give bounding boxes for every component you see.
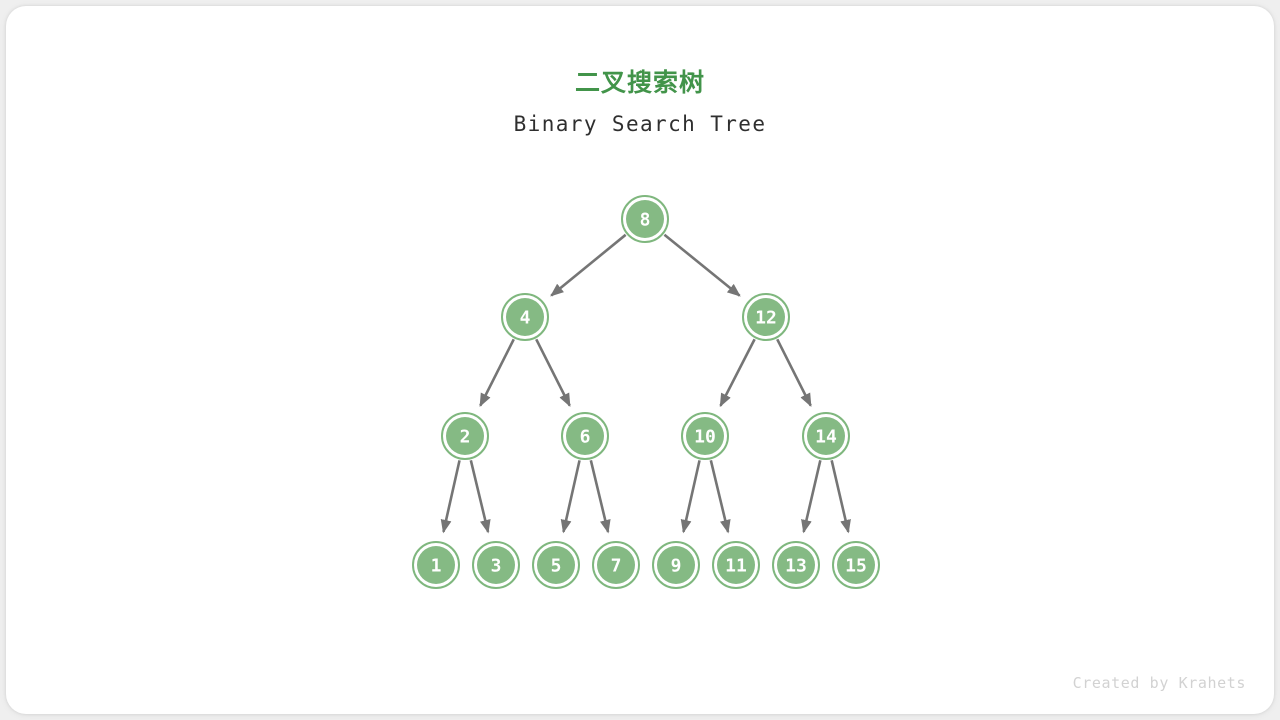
tree-node-label: 10	[694, 427, 716, 448]
tree-edge	[711, 460, 728, 532]
tree-edge	[480, 339, 513, 405]
tree-node-label: 11	[725, 556, 747, 577]
tree-node: 10	[682, 413, 728, 459]
tree-node-label: 1	[431, 556, 442, 577]
tree-node: 6	[562, 413, 608, 459]
tree-edge	[536, 339, 569, 405]
tree-edge	[777, 339, 810, 405]
tree-edge	[591, 460, 608, 532]
tree-edge	[551, 235, 625, 296]
tree-node: 7	[593, 542, 639, 588]
tree-node: 5	[533, 542, 579, 588]
tree-node-label: 5	[551, 556, 562, 577]
tree-node-label: 15	[845, 556, 867, 577]
tree-edge	[832, 460, 849, 532]
tree-edges-layer	[443, 235, 848, 532]
tree-node-label: 9	[671, 556, 682, 577]
tree-edge	[683, 460, 699, 531]
tree-node: 3	[473, 542, 519, 588]
tree-node-label: 7	[611, 556, 622, 577]
credit-text: Created by Krahets	[1073, 674, 1246, 692]
tree-edge	[721, 339, 755, 405]
tree-node: 2	[442, 413, 488, 459]
tree-edge	[443, 460, 459, 531]
tree-node: 9	[653, 542, 699, 588]
binary-search-tree-diagram: 841226101413579111315	[6, 6, 1274, 714]
tree-node-label: 13	[785, 556, 807, 577]
tree-node-label: 2	[460, 427, 471, 448]
tree-node-label: 8	[640, 210, 651, 231]
tree-node: 8	[622, 196, 668, 242]
tree-node: 13	[773, 542, 819, 588]
tree-node-label: 14	[815, 427, 837, 448]
screenshot-canvas: 二叉搜索树 Binary Search Tree 841226101413579…	[0, 0, 1280, 720]
tree-node-label: 4	[520, 308, 531, 329]
tree-node: 1	[413, 542, 459, 588]
tree-edge	[664, 235, 739, 296]
tree-node: 11	[713, 542, 759, 588]
tree-edge	[804, 460, 821, 532]
tree-node-label: 6	[580, 427, 591, 448]
tree-edge	[471, 460, 488, 532]
tree-node: 4	[502, 294, 548, 340]
diagram-card: 二叉搜索树 Binary Search Tree 841226101413579…	[6, 6, 1274, 714]
tree-node-label: 12	[755, 308, 777, 329]
tree-node: 14	[803, 413, 849, 459]
tree-edge	[563, 460, 579, 531]
tree-nodes-layer: 841226101413579111315	[413, 196, 879, 588]
tree-node-label: 3	[491, 556, 502, 577]
tree-node: 12	[743, 294, 789, 340]
tree-node: 15	[833, 542, 879, 588]
